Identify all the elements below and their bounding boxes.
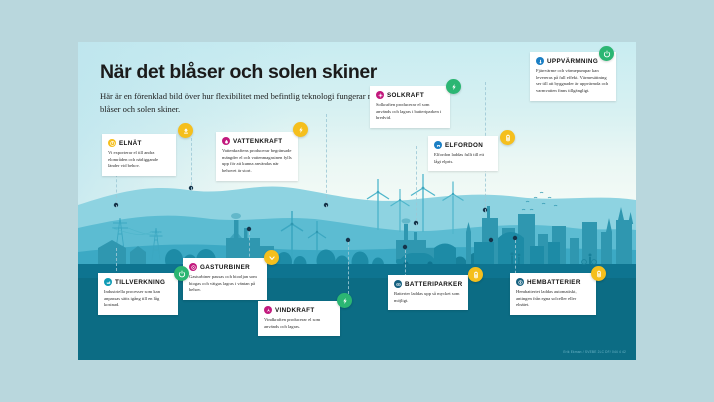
card-header: UPPVÄRMNING bbox=[536, 57, 610, 65]
card-body: Vi exporterar el till andra elområden oc… bbox=[108, 150, 170, 170]
card-body: Fjärrvärme och värmepumpar kan levereras… bbox=[536, 68, 610, 95]
badge-uppvarmning[interactable] bbox=[599, 46, 614, 61]
battery-icon bbox=[595, 270, 603, 278]
sun-icon bbox=[376, 91, 384, 99]
card-title: BATTERIPARKER bbox=[405, 281, 463, 288]
page-subtitle: Här är en förenklad bild över hur flexib… bbox=[100, 90, 400, 116]
card-title: TILLVERKNING bbox=[115, 279, 165, 286]
export-up-icon bbox=[182, 127, 190, 135]
card-body: Gasturbiner pausas och biooljan som biog… bbox=[189, 274, 261, 294]
battery-icon bbox=[504, 134, 512, 142]
badge-batteriparker[interactable] bbox=[468, 267, 483, 282]
card-title: VATTENKRAFT bbox=[233, 138, 282, 145]
badge-solkraft[interactable] bbox=[446, 79, 461, 94]
card-header: HEMBATTERIER bbox=[516, 278, 590, 286]
card-title: ELNÄT bbox=[119, 140, 142, 147]
card-body: Vattenkraftens producerar begränsade män… bbox=[222, 148, 292, 175]
home-battery-icon bbox=[516, 278, 524, 286]
bolt-icon bbox=[450, 83, 458, 91]
card-header: VATTENKRAFT bbox=[222, 137, 292, 145]
headline-block: När det blåser och solen skiner Här är e… bbox=[100, 62, 400, 116]
card-vindkraft[interactable]: VINDKRAFT Vindkraften producerar el som … bbox=[258, 301, 340, 336]
page-title: När det blåser och solen skiner bbox=[100, 62, 400, 83]
badge-hembatterier[interactable] bbox=[591, 266, 606, 281]
card-body: Industriella processer som kan anpassas … bbox=[104, 289, 172, 309]
card-elnat[interactable]: ELNÄT Vi exporterar el till andra elområ… bbox=[102, 134, 176, 176]
card-title: VINDKRAFT bbox=[275, 307, 315, 314]
badge-gasturbiner[interactable] bbox=[264, 250, 279, 265]
card-body: Vindkraften producerar el som används oc… bbox=[264, 317, 334, 330]
bolt-icon bbox=[297, 126, 305, 134]
wind-icon bbox=[264, 306, 272, 314]
connector-tillverkning bbox=[116, 248, 117, 276]
card-title: SOLKRAFT bbox=[387, 92, 424, 99]
card-header: ELNÄT bbox=[108, 139, 170, 147]
battery-icon bbox=[472, 271, 480, 279]
badge-elnat[interactable] bbox=[178, 123, 193, 138]
car-icon bbox=[434, 141, 442, 149]
card-tillverkning[interactable]: TILLVERKNING Industriella processer som … bbox=[98, 273, 178, 315]
connector-vattenkraft bbox=[191, 138, 192, 190]
card-title: ELFORDON bbox=[445, 142, 483, 149]
card-body: Elfordon laddas fullt till ett lågt elpr… bbox=[434, 152, 492, 165]
card-header: SOLKRAFT bbox=[376, 91, 444, 99]
water-drop-icon bbox=[222, 137, 230, 145]
power-icon bbox=[178, 270, 186, 278]
plug-icon bbox=[108, 139, 116, 147]
credit-line: Erik Ekman / SVEBE 2LC DF/ 044 4 42 bbox=[563, 350, 626, 354]
card-batteriparker[interactable]: BATTERIPARKER Batterier laddas upp så my… bbox=[388, 275, 468, 310]
card-header: TILLVERKNING bbox=[104, 278, 172, 286]
infographic-slide: När det blåser och solen skiner Här är e… bbox=[0, 0, 714, 402]
card-header: ELFORDON bbox=[434, 141, 492, 149]
badge-vattenkraft[interactable] bbox=[293, 122, 308, 137]
connector-vindkraft bbox=[348, 242, 349, 294]
badge-elfordon[interactable] bbox=[500, 130, 515, 145]
badge-vindkraft[interactable] bbox=[337, 293, 352, 308]
card-header: BATTERIPARKER bbox=[394, 280, 462, 288]
connector-elfordon bbox=[416, 146, 417, 226]
card-gasturbiner[interactable]: GASTURBINER Gasturbiner pausas och biool… bbox=[183, 258, 267, 300]
battery-park-icon bbox=[394, 280, 402, 288]
badge-tillverkning[interactable] bbox=[174, 266, 189, 281]
chevron-down-icon bbox=[268, 254, 276, 262]
card-body: Hembatteriet laddas automatiskt, antinge… bbox=[516, 289, 590, 309]
card-title: GASTURBINER bbox=[200, 264, 250, 271]
factory-icon bbox=[104, 278, 112, 286]
power-icon bbox=[603, 50, 611, 58]
card-body: Solkraften producerar el som används och… bbox=[376, 102, 444, 122]
card-solkraft[interactable]: SOLKRAFT Solkraften producerar el som an… bbox=[370, 86, 450, 128]
card-header: GASTURBINER bbox=[189, 263, 261, 271]
card-title: HEMBATTERIER bbox=[527, 279, 581, 286]
card-hembatterier[interactable]: HEMBATTERIER Hembatteriet laddas automat… bbox=[510, 273, 596, 315]
thermometer-icon bbox=[536, 57, 544, 65]
connector-solkraft bbox=[326, 114, 327, 208]
slide-canvas: När det blåser och solen skiner Här är e… bbox=[78, 42, 636, 360]
card-title: UPPVÄRMNING bbox=[547, 58, 598, 65]
card-vattenkraft[interactable]: VATTENKRAFT Vattenkraftens producerar be… bbox=[216, 132, 298, 181]
card-body: Batterier laddas upp så mycket som möjli… bbox=[394, 291, 462, 304]
card-header: VINDKRAFT bbox=[264, 306, 334, 314]
card-elfordon[interactable]: ELFORDON Elfordon laddas fullt till ett … bbox=[428, 136, 498, 171]
bolt-icon bbox=[341, 297, 349, 305]
turbine-icon bbox=[189, 263, 197, 271]
